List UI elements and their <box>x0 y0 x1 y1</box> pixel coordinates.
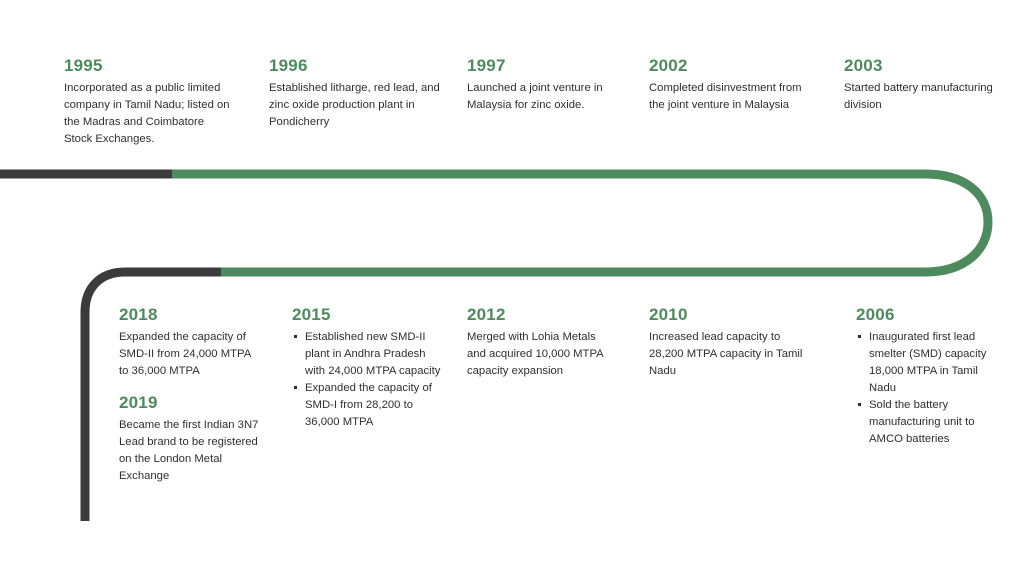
milestone-spacer <box>119 380 259 393</box>
milestone-description: Launched a joint venture in Malaysia for… <box>467 80 635 114</box>
milestone-2012: 2012 Merged with Lohia Metals and acquir… <box>467 305 612 380</box>
milestone-year-label-2019: 2019 <box>119 393 259 413</box>
milestone-description: Completed disinvestment from the joint v… <box>649 80 809 114</box>
milestone-description: Increased lead capacity to 28,200 MTPA c… <box>649 329 809 380</box>
bullet-icon <box>294 335 297 338</box>
list-item-text: Inaugurated first lead smelter (SMD) cap… <box>869 331 986 394</box>
list-item-text: Sold the battery manufacturing unit to A… <box>869 399 975 445</box>
milestone-2015: 2015 Established new SMD-II plant in And… <box>292 305 442 431</box>
bullet-icon <box>294 386 297 389</box>
list-item: Sold the battery manufacturing unit to A… <box>856 397 1006 448</box>
milestone-year-label: 2018 <box>119 305 259 325</box>
timeline-top-green-segment <box>172 174 988 272</box>
milestone-year-label: 2010 <box>649 305 809 325</box>
milestone-1996: 1996 Established litharge, red lead, and… <box>269 56 447 131</box>
list-item: Established new SMD-II plant in Andhra P… <box>292 329 442 380</box>
milestone-year-label: 1997 <box>467 56 635 76</box>
milestone-year-label: 2015 <box>292 305 442 325</box>
milestone-description: Incorporated as a public limited company… <box>64 80 232 149</box>
milestone-2003: 2003 Started battery manufacturing divis… <box>844 56 1004 114</box>
list-item: Expanded the capacity of SMD-I from 28,2… <box>292 380 442 431</box>
list-item-text: Expanded the capacity of SMD-I from 28,2… <box>305 382 432 428</box>
milestone-year-label: 1995 <box>64 56 232 76</box>
milestone-2006: 2006 Inaugurated first lead smelter (SMD… <box>856 305 1006 449</box>
milestone-2018-2019: 2018 Expanded the capacity of SMD-II fro… <box>119 305 259 485</box>
milestone-bullet-list: Inaugurated first lead smelter (SMD) cap… <box>856 329 1006 449</box>
milestone-1997: 1997 Launched a joint venture in Malaysi… <box>467 56 635 114</box>
milestone-description: Established litharge, red lead, and zinc… <box>269 80 447 131</box>
bullet-icon <box>858 335 861 338</box>
milestone-description-2019: Became the first Indian 3N7 Lead brand t… <box>119 417 259 486</box>
milestone-year-label: 2002 <box>649 56 809 76</box>
milestone-2010: 2010 Increased lead capacity to 28,200 M… <box>649 305 809 380</box>
milestone-year-label: 2012 <box>467 305 612 325</box>
milestone-description: Merged with Lohia Metals and acquired 10… <box>467 329 612 380</box>
milestone-2002: 2002 Completed disinvestment from the jo… <box>649 56 809 114</box>
bullet-icon <box>858 403 861 406</box>
list-item: Inaugurated first lead smelter (SMD) cap… <box>856 329 1006 398</box>
milestone-description: Started battery manufacturing division <box>844 80 1004 114</box>
milestone-year-label: 2003 <box>844 56 1004 76</box>
milestone-year-label: 2006 <box>856 305 1006 325</box>
milestone-1995: 1995 Incorporated as a public limited co… <box>64 56 232 148</box>
milestone-year-label: 1996 <box>269 56 447 76</box>
milestone-description: Expanded the capacity of SMD-II from 24,… <box>119 329 259 380</box>
milestone-bullet-list: Established new SMD-II plant in Andhra P… <box>292 329 442 432</box>
list-item-text: Established new SMD-II plant in Andhra P… <box>305 331 440 377</box>
